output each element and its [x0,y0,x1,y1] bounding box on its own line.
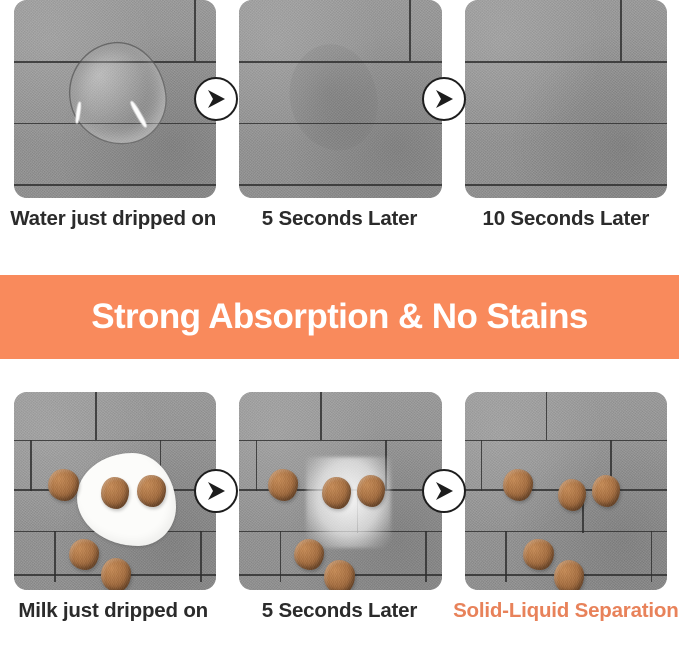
grout-line-v [194,0,196,61]
kibble-piece [554,560,584,590]
grout-line-v [409,0,411,61]
kibble-piece [294,539,324,571]
grout-line-v [481,440,483,491]
grout-line-h [239,184,441,186]
grout-line-h [465,123,667,125]
caption-water-panel-1: Water just dripped on [0,206,226,232]
kibble-piece [322,477,350,509]
kibble-piece [503,469,533,501]
milk-panel-1 [14,392,216,590]
mat-texture [465,0,667,198]
grout-line-v [620,0,622,61]
kibble-piece [268,469,298,501]
water-panel-1-cell [0,0,226,198]
water-panel-2 [239,0,441,198]
grout-line-v [320,392,322,440]
kibble-piece [69,539,99,571]
grout-line-v [505,531,507,582]
milk-panel-1-cell [0,392,226,590]
grout-line-v [280,531,282,582]
grout-line-h [239,440,441,442]
grout-line-h [14,440,216,442]
water-panel-1 [14,0,216,198]
milk-captions: Milk just dripped on 5 Seconds Later Sol… [0,598,679,624]
grout-line-v [95,392,97,440]
milk-sequence-row [0,392,679,590]
water-panel-3-cell [453,0,679,198]
grout-line-v [54,531,56,582]
kibble-piece [523,539,553,571]
milk-panel-3 [465,392,667,590]
caption-water-panel-3: 10 Seconds Later [453,206,679,232]
grout-line-v [651,531,653,582]
caption-milk-panel-2: 5 Seconds Later [226,598,452,624]
droplet-highlight [129,99,148,127]
water-captions: Water just dripped on 5 Seconds Later 10… [0,206,679,232]
grout-line-v [256,440,258,491]
kibble-piece [592,475,620,507]
arrow-right-icon [194,469,238,513]
product-feature-graphic: Water just dripped on 5 Seconds Later 10… [0,0,679,655]
caption-milk-panel-3: Solid-Liquid Separation [453,598,679,624]
caption-water-panel-2: 5 Seconds Later [226,206,452,232]
water-panel-3 [465,0,667,198]
kibble-piece [558,479,586,511]
milk-panel-2 [239,392,441,590]
grout-line-v [546,392,548,440]
headline-text: Strong Absorption & No Stains [91,297,588,337]
milk-panel-3-cell [453,392,679,590]
milk-panel-2-cell [226,392,452,590]
headline-banner: Strong Absorption & No Stains [0,275,679,359]
arrow-right-icon [422,77,466,121]
grout-line-h [465,440,667,442]
grout-line-v [200,531,202,582]
grout-line-v [425,531,427,582]
grout-line-v [30,440,32,491]
droplet-highlight [74,101,81,123]
kibble-piece [357,475,385,507]
arrow-right-icon [194,77,238,121]
water-panel-2-cell [226,0,452,198]
kibble-piece [48,469,78,501]
arrow-right-icon [422,469,466,513]
grout-line-h [14,184,216,186]
kibble-piece [101,477,129,509]
water-sequence-row [0,0,679,198]
grout-line-h [465,61,667,63]
caption-milk-panel-1: Milk just dripped on [0,598,226,624]
kibble-piece [137,475,165,507]
grout-line-h [465,531,667,533]
kibble-piece [324,560,354,590]
kibble-piece [101,558,131,590]
grout-line-h [465,184,667,186]
